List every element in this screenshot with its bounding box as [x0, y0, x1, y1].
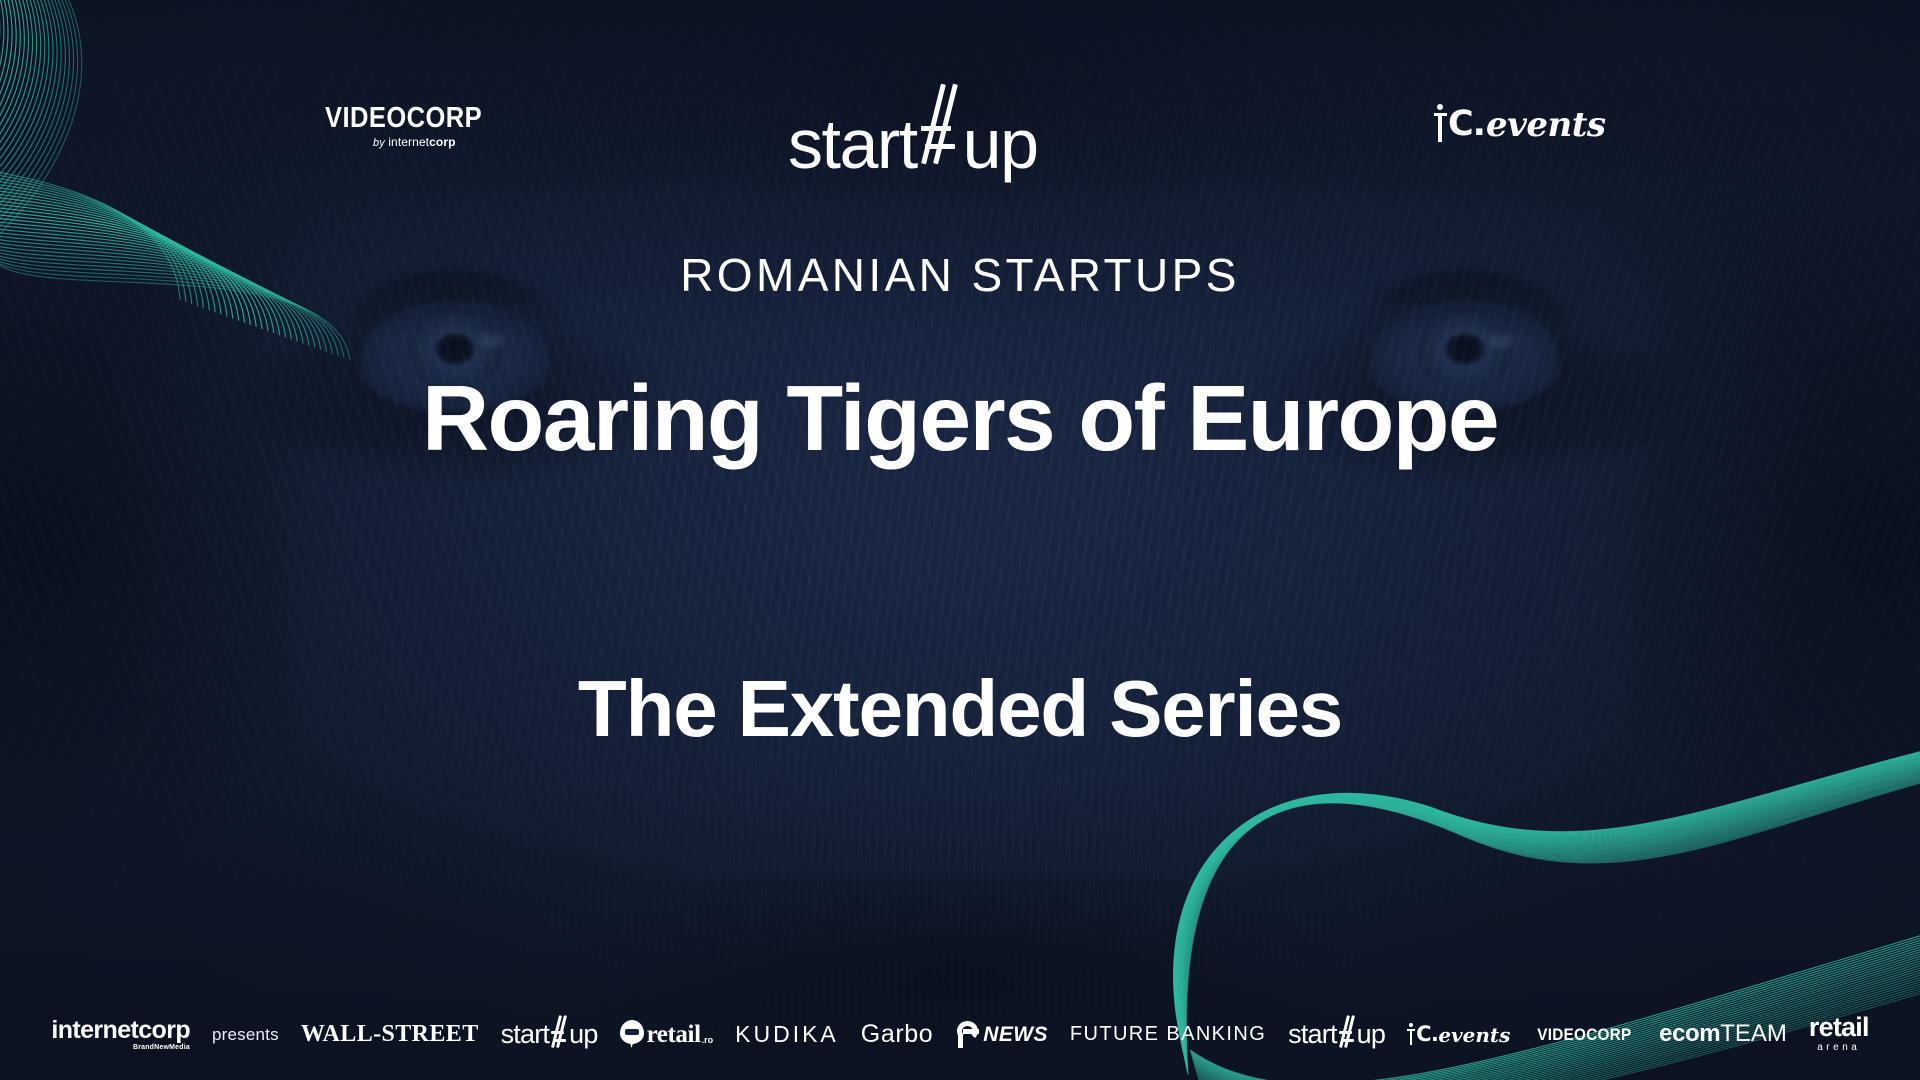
retailarena-sub: arena [1817, 1043, 1860, 1053]
internetcorp-tagline: BrandNewMedia [133, 1044, 190, 1051]
startup-word-part1: start [1288, 1021, 1337, 1048]
startup-word-part2: up [1357, 1021, 1385, 1048]
partner-retail[interactable]: retail .ro [620, 1020, 714, 1048]
partner-startup[interactable]: start up [501, 1020, 598, 1048]
partner-retail-arena[interactable]: retail arena [1809, 1015, 1869, 1053]
ecomteam-part-b: TEAM [1720, 1022, 1787, 1046]
partner-internetcorp[interactable]: internetcorp BrandNewMedia [51, 1018, 190, 1051]
retail-tld: .ro [702, 1036, 714, 1045]
partner-ecomteam[interactable]: ecom TEAM [1659, 1022, 1787, 1046]
e-swoosh-icon [955, 1020, 981, 1048]
partner-garbo[interactable]: Garbo [861, 1022, 933, 1047]
hash-slash-icon [1338, 1020, 1356, 1048]
page-title: Roaring Tigers of Europe [0, 368, 1920, 468]
icevents-letter: C. [1416, 1024, 1438, 1045]
eyebrow-text: ROMANIAN STARTUPS [0, 252, 1920, 298]
hash-slash-icon [550, 1020, 568, 1048]
partner-logo-strip: internetcorp BrandNewMedia presents WALL… [0, 1006, 1920, 1062]
ecomteam-part-a: ecom [1659, 1022, 1720, 1046]
icevents-script: events [1438, 1025, 1510, 1045]
icevents-i-icon [1407, 1023, 1415, 1045]
internetcorp-wordmark: internetcorp [51, 1018, 190, 1043]
enews-wordmark: NEWS [983, 1024, 1048, 1045]
slide-canvas: VIDEOCORP by internetcorp start up C. ev… [0, 0, 1920, 1080]
partner-kudika[interactable]: KUDIKA [735, 1023, 839, 1046]
hero-text-block: ROMANIAN STARTUPS Roaring Tigers of Euro… [0, 0, 1920, 1080]
partner-videocorp[interactable]: VIDEOCORP [1538, 1026, 1632, 1043]
retailarena-wordmark: retail [1809, 1015, 1869, 1041]
retail-wordmark: retail [647, 1022, 701, 1047]
startup-word-part2: up [569, 1021, 597, 1048]
partner-icevents[interactable]: C. events [1407, 1023, 1510, 1045]
presents-label: presents [212, 1026, 279, 1043]
startup-word-part1: start [501, 1021, 550, 1048]
page-subtitle: The Extended Series [0, 666, 1920, 752]
partner-startup-2[interactable]: start up [1288, 1020, 1385, 1048]
partner-future-banking[interactable]: FUTURE BANKING [1070, 1024, 1266, 1044]
partner-wall-street[interactable]: WALL-STREET [301, 1022, 479, 1046]
map-pin-icon [620, 1020, 644, 1048]
partner-enews[interactable]: NEWS [955, 1020, 1048, 1048]
